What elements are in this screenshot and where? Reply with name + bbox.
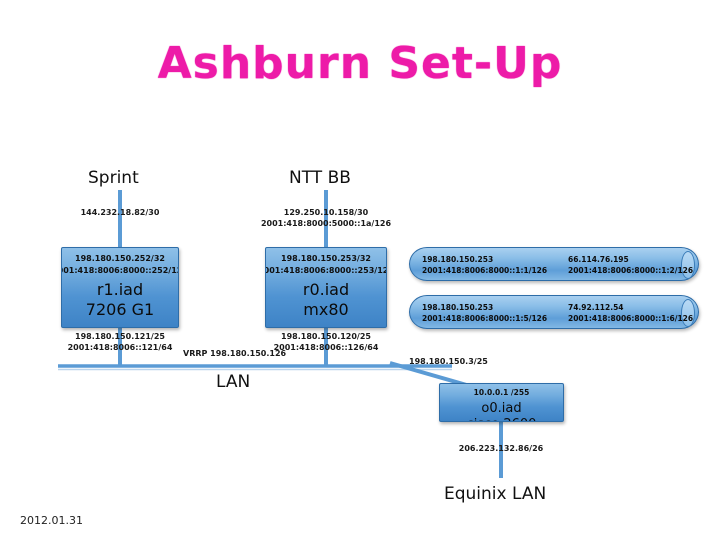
router-r1-ip-block: 198.180.150.252/32 2001:418:8006:8000::2… — [62, 248, 178, 276]
router-r0-ip-block: 198.180.150.253/32 2001:418:8006:8000::2… — [266, 248, 386, 276]
annot-ntt-uplink-v6: 2001:418:8000:5000::1a/126 — [226, 219, 426, 230]
peering-2-local: 198.180.150.253 2001:418:8006:8000::1:5/… — [422, 302, 547, 325]
annot-vrrp-address: VRRP 198.180.150.126 — [183, 349, 286, 360]
provider-label-ntt: NTT BB — [289, 168, 351, 188]
router-r1-hostname: r1.iad — [62, 280, 178, 300]
segment-label-equinix-lan: Equinix LAN — [444, 484, 546, 504]
annot-sprint-uplink-v4: 144.232.18.82/30 — [20, 208, 220, 219]
router-node-r0-iad[interactable]: 198.180.150.253/32 2001:418:8006:8000::2… — [265, 247, 387, 328]
router-r1-model: 7206 G1 — [62, 300, 178, 320]
peering-1-local-v4: 198.180.150.253 — [422, 254, 547, 265]
router-r1-ipv6: 2001:418:8006:8000::252/128 — [61, 265, 179, 277]
annot-ntt-uplink-v4: 129.250.10.158/30 — [226, 208, 426, 219]
router-o0-hostname: o0.iad — [440, 401, 563, 417]
peering-1-remote-v4: 66.114.76.195 — [568, 254, 693, 265]
segment-label-lan: LAN — [216, 372, 250, 392]
peering-1-remote: 66.114.76.195 2001:418:8006:8000::1:2/12… — [568, 254, 693, 277]
router-node-o0-iad[interactable]: 10.0.0.1 /255 o0.iad cisco 2600 — [439, 383, 564, 422]
annot-o0-uplink: 198.180.150.3/25 — [409, 357, 488, 368]
slide-canvas: Ashburn Set-Up Sprint NTT BB 144.232.18.… — [0, 0, 720, 540]
router-o0-ipv4: 10.0.0.1 /255 — [440, 388, 563, 399]
peering-2-local-v4: 198.180.150.253 — [422, 302, 547, 313]
router-r0-hostname: r0.iad — [266, 280, 386, 300]
peering-1-local-v6: 2001:418:8006:8000::1:1/126 — [422, 265, 547, 276]
peering-2-remote: 74.92.112.54 2001:418:8006:8000::1:6/126 — [568, 302, 693, 325]
slide-title: Ashburn Set-Up — [0, 38, 720, 89]
router-r0-model: mx80 — [266, 300, 386, 320]
slide-date: 2012.01.31 — [20, 514, 83, 527]
router-r1-name-block: r1.iad 7206 G1 — [62, 276, 178, 320]
annot-r1-downlink-v4: 198.180.150.121/25 — [20, 332, 220, 343]
peering-cylinder-2[interactable]: 198.180.150.253 2001:418:8006:8000::1:5/… — [409, 295, 699, 329]
router-r0-ipv4: 198.180.150.253/32 — [266, 253, 386, 265]
peering-1-remote-v6: 2001:418:8006:8000::1:2/126 — [568, 265, 693, 276]
peering-1-local: 198.180.150.253 2001:418:8006:8000::1:1/… — [422, 254, 547, 277]
router-r0-ipv6: 2001:418:8006:8000::253/128 — [265, 265, 387, 277]
router-r1-ipv4: 198.180.150.252/32 — [62, 253, 178, 265]
peering-2-local-v6: 2001:418:8006:8000::1:5/126 — [422, 313, 547, 324]
router-node-r1-iad[interactable]: 198.180.150.252/32 2001:418:8006:8000::2… — [61, 247, 179, 328]
annot-r0-downlink-v4: 198.180.150.120/25 — [226, 332, 426, 343]
router-o0-name-block: o0.iad cisco 2600 — [440, 399, 563, 422]
annot-o0-downlink: 206.223.132.86/26 — [401, 444, 601, 455]
provider-label-sprint: Sprint — [88, 168, 139, 188]
router-o0-ip-block: 10.0.0.1 /255 — [440, 384, 563, 399]
router-r0-name-block: r0.iad mx80 — [266, 276, 386, 320]
peering-2-remote-v6: 2001:418:8006:8000::1:6/126 — [568, 313, 693, 324]
peering-cylinder-1[interactable]: 198.180.150.253 2001:418:8006:8000::1:1/… — [409, 247, 699, 281]
peering-2-remote-v4: 74.92.112.54 — [568, 302, 693, 313]
router-o0-model: cisco 2600 — [440, 417, 563, 422]
